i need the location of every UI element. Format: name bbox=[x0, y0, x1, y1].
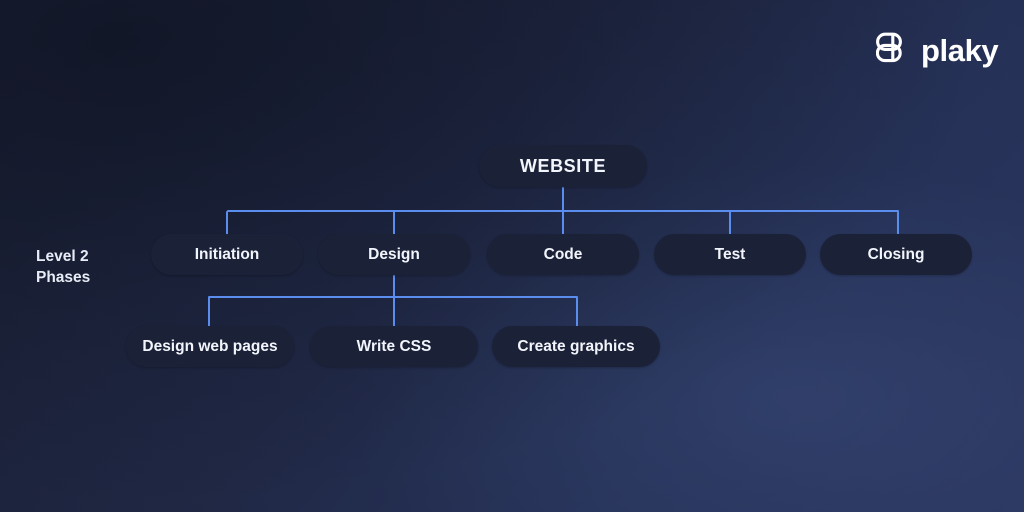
node-closing[interactable]: Closing bbox=[820, 234, 972, 275]
node-design-web-pages[interactable]: Design web pages bbox=[126, 326, 294, 367]
connector-drop-write-css bbox=[393, 297, 395, 327]
node-write-css[interactable]: Write CSS bbox=[310, 326, 478, 367]
node-website-root[interactable]: WEBSITE bbox=[479, 145, 647, 187]
connector-design-stem bbox=[393, 275, 395, 298]
level-2-phases-label: Level 2 Phases bbox=[36, 246, 90, 288]
plaky-logo-icon bbox=[876, 31, 910, 69]
node-code[interactable]: Code bbox=[487, 234, 639, 275]
node-initiation[interactable]: Initiation bbox=[151, 234, 303, 275]
connector-drop-design-web-pages bbox=[208, 297, 210, 327]
connector-drop-design bbox=[393, 211, 395, 235]
connector-drop-create-graphics bbox=[576, 297, 578, 327]
connector-drop-initiation bbox=[226, 211, 228, 235]
diagram-canvas: plaky Level 2 Phases WEBSITE Initiation … bbox=[0, 0, 1024, 512]
connector-drop-test bbox=[729, 211, 731, 235]
node-design[interactable]: Design bbox=[318, 234, 470, 275]
connector-drop-code bbox=[562, 211, 564, 235]
connector-root-stem bbox=[562, 187, 564, 212]
node-test[interactable]: Test bbox=[654, 234, 806, 275]
node-create-graphics[interactable]: Create graphics bbox=[492, 326, 660, 367]
brand-wordmark: plaky bbox=[921, 35, 998, 66]
connector-drop-closing bbox=[897, 211, 899, 235]
plaky-logo: plaky bbox=[876, 31, 998, 69]
